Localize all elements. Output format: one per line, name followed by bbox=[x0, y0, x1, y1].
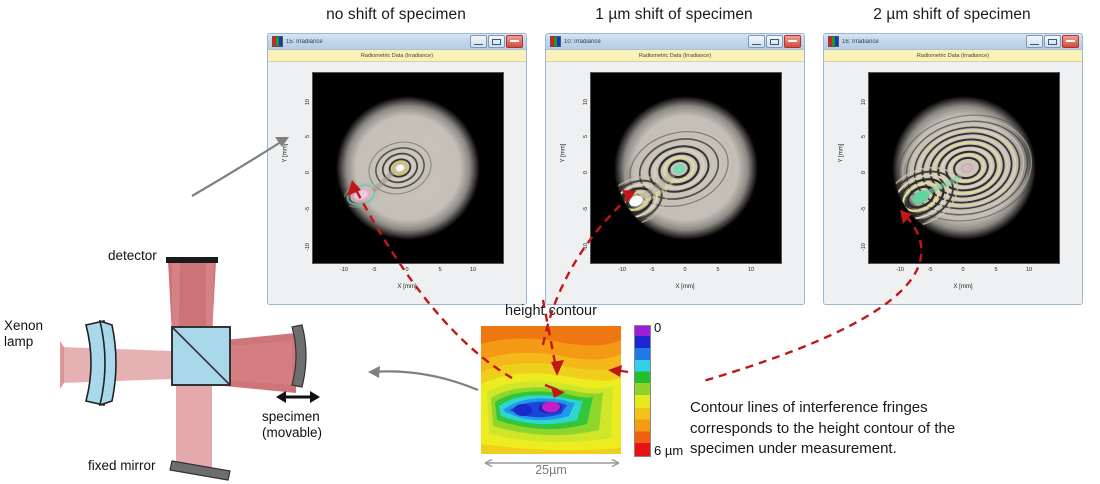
window-controls[interactable] bbox=[748, 35, 802, 48]
close-icon[interactable] bbox=[1062, 35, 1079, 48]
x-tick: -5 bbox=[921, 267, 939, 273]
irradiance-plot-2 bbox=[590, 72, 782, 264]
x-tick: -10 bbox=[613, 267, 631, 273]
minimize-icon[interactable] bbox=[470, 35, 487, 48]
y-tick: -5 bbox=[861, 207, 867, 221]
beam-to-fixed-mirror bbox=[176, 377, 212, 469]
y-tick: -10 bbox=[861, 243, 867, 257]
close-icon[interactable] bbox=[506, 35, 523, 48]
interferometer-diagram bbox=[0, 255, 340, 484]
y-tick: -5 bbox=[305, 207, 311, 221]
window-title-text: 15: Irradiance bbox=[286, 39, 470, 45]
window-titlebar[interactable]: 16: Irradiance bbox=[824, 34, 1082, 50]
window-subtitle: Radiometric Data (Irradiance) bbox=[546, 50, 804, 62]
fringe-pattern-1 bbox=[313, 73, 503, 263]
caption-line-3: specimen under measurement. bbox=[690, 439, 1040, 460]
window-controls[interactable] bbox=[1026, 35, 1080, 48]
app-icon bbox=[550, 36, 561, 47]
plot-area-2: Y [mm] 10 5 0 -5 -10 -10 -5 0 5 10 X [mm… bbox=[546, 62, 804, 305]
specimen-label: specimen (movable) bbox=[262, 409, 322, 442]
y-tick: 10 bbox=[583, 99, 589, 113]
app-icon bbox=[828, 36, 839, 47]
app-icon bbox=[272, 36, 283, 47]
x-tick: 5 bbox=[431, 267, 449, 273]
fringe-pattern-3 bbox=[869, 73, 1059, 263]
specimen-line2: (movable) bbox=[262, 425, 322, 440]
x-tick: -5 bbox=[365, 267, 383, 273]
specimen-motion-arrow bbox=[276, 391, 320, 403]
gray-arrow-specimen-to-contour bbox=[368, 366, 478, 390]
specimen-line1: specimen bbox=[262, 409, 320, 424]
x-tick: 0 bbox=[954, 267, 972, 273]
x-tick: -5 bbox=[643, 267, 661, 273]
x-tick: 0 bbox=[676, 267, 694, 273]
irradiance-plot-1 bbox=[312, 72, 504, 264]
plot-area-3: Y [mm] 10 5 0 -5 -10 -10 -5 0 5 10 X [mm… bbox=[824, 62, 1082, 305]
y-tick: 10 bbox=[305, 99, 311, 113]
close-icon[interactable] bbox=[784, 35, 801, 48]
caption-line-1: Contour lines of interference fringes bbox=[690, 398, 1040, 419]
xenon-lamp-line2: lamp bbox=[4, 334, 33, 349]
contour-colorbar bbox=[634, 325, 651, 457]
y-tick: 5 bbox=[861, 135, 867, 149]
beam-splitter-icon bbox=[172, 327, 230, 385]
window-subtitle: Radiometric Data (Irradiance) bbox=[268, 50, 526, 62]
x-axis-label-3: X [mm] bbox=[868, 284, 1058, 290]
minimize-icon[interactable] bbox=[748, 35, 765, 48]
maximize-icon[interactable] bbox=[488, 35, 505, 48]
column-header-1um-shift: 1 µm shift of specimen bbox=[545, 6, 803, 24]
window-title-text: 16: Irradiance bbox=[842, 39, 1026, 45]
colorbar-min-label: 6 µm bbox=[654, 443, 683, 458]
beam-from-lamp bbox=[62, 347, 172, 383]
x-tick: 0 bbox=[398, 267, 416, 273]
window-titlebar[interactable]: 10: Irradiance bbox=[546, 34, 804, 50]
maximize-icon[interactable] bbox=[766, 35, 783, 48]
minimize-icon[interactable] bbox=[1026, 35, 1043, 48]
colorbar-max-label: 0 bbox=[654, 320, 661, 335]
x-axis-label-1: X [mm] bbox=[312, 284, 502, 290]
x-axis-label-2: X [mm] bbox=[590, 284, 780, 290]
x-tick: 5 bbox=[709, 267, 727, 273]
irradiance-plot-3 bbox=[868, 72, 1060, 264]
xenon-lamp-label: Xenon lamp bbox=[4, 318, 43, 351]
window-titlebar[interactable]: 15: Irradiance bbox=[268, 34, 526, 50]
irradiance-window-3[interactable]: 16: Irradiance Radiometric Data (Irradia… bbox=[823, 33, 1083, 305]
x-tick: 5 bbox=[987, 267, 1005, 273]
y-tick: 0 bbox=[861, 171, 867, 185]
scale-label: 25µm bbox=[481, 463, 621, 477]
x-tick: 10 bbox=[464, 267, 482, 273]
fixed-mirror-label: fixed mirror bbox=[88, 458, 156, 474]
irradiance-window-2[interactable]: 10: Irradiance Radiometric Data (Irradia… bbox=[545, 33, 805, 305]
height-contour-plot bbox=[481, 326, 621, 454]
maximize-icon[interactable] bbox=[1044, 35, 1061, 48]
lens-icon bbox=[86, 321, 116, 405]
y-tick: 10 bbox=[861, 99, 867, 113]
column-header-2um-shift: 2 µm shift of specimen bbox=[823, 6, 1081, 24]
y-axis-label-2: Y [mm] bbox=[560, 144, 566, 163]
y-tick: 0 bbox=[583, 171, 589, 185]
column-header-no-shift: no shift of specimen bbox=[267, 6, 525, 24]
y-tick: -5 bbox=[583, 207, 589, 221]
window-controls[interactable] bbox=[470, 35, 524, 48]
x-tick: 10 bbox=[1020, 267, 1038, 273]
y-tick: 5 bbox=[305, 135, 311, 149]
detector-icon bbox=[166, 257, 218, 263]
height-contour-title: height contour bbox=[481, 303, 621, 319]
window-title-text: 10: Irradiance bbox=[564, 39, 748, 45]
contour-map bbox=[481, 326, 621, 454]
window-subtitle: Radiometric Data (Irradiance) bbox=[824, 50, 1082, 62]
detector-label: detector bbox=[108, 248, 157, 264]
y-axis-label-3: Y [mm] bbox=[838, 144, 844, 163]
y-axis-label-1: Y [mm] bbox=[282, 144, 288, 163]
y-tick: 5 bbox=[583, 135, 589, 149]
y-tick: 0 bbox=[305, 171, 311, 185]
x-tick: -10 bbox=[891, 267, 909, 273]
xenon-lamp-line1: Xenon bbox=[4, 318, 43, 333]
caption-block: Contour lines of interference fringes co… bbox=[690, 398, 1040, 460]
x-tick: 10 bbox=[742, 267, 760, 273]
caption-line-2: corresponds to the height contour of the bbox=[690, 419, 1040, 440]
y-tick: -10 bbox=[583, 243, 589, 257]
fringe-pattern-2 bbox=[591, 73, 781, 263]
